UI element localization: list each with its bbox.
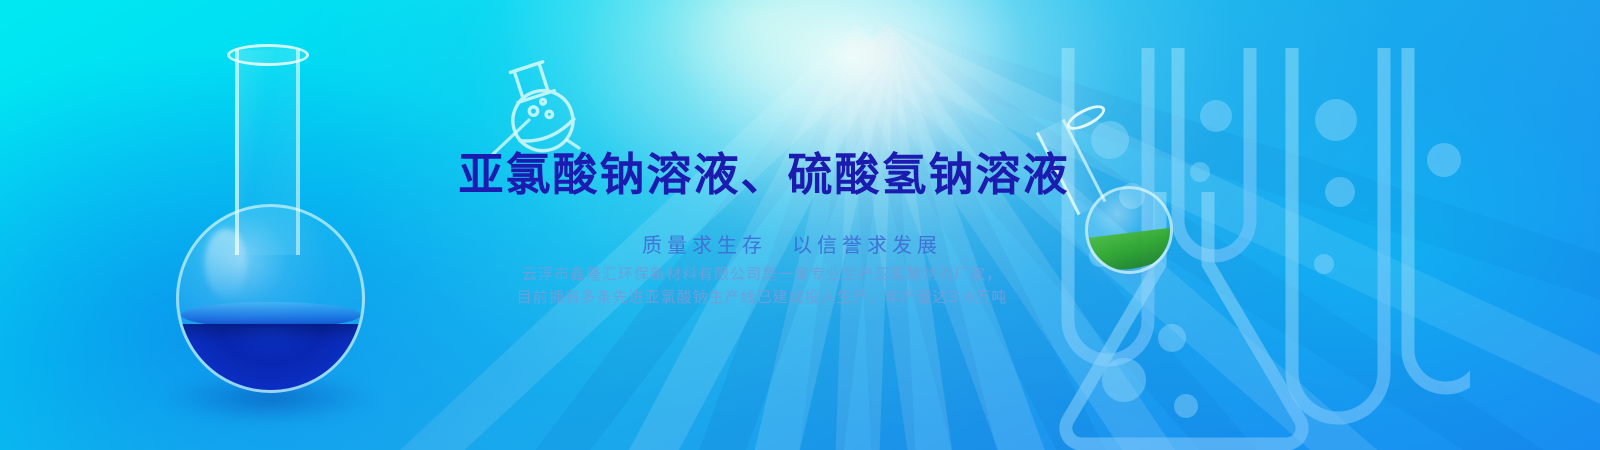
right-cyan-wash [940, 0, 1600, 450]
flask-blue-liquid [176, 324, 365, 393]
flask-liquid-surface [181, 302, 361, 328]
flask-lip [227, 44, 309, 66]
tilted-flask-lip [1063, 100, 1108, 134]
tilted-flask-shadow [1076, 258, 1178, 284]
bottom-left-blue-wash [0, 50, 620, 450]
tilted-flask-neck [1036, 119, 1106, 216]
radial-light-glow [300, 0, 1400, 435]
flask-bulb [176, 204, 365, 393]
banner-body-line-2: 目前拥有多条先进亚氯酸钠生产线已建成投入生产，年产量达3.6万吨 [0, 286, 1562, 307]
banner-text-block: 亚氯酸钠溶液、硫酸氢钠溶液 质量求生存 以信誉求发展 云浮市鑫隆汇环保新材料有限… [0, 0, 1600, 450]
flask-green-liquid [1085, 227, 1173, 274]
banner-tagline: 质量求生存 以信誉求发展 [0, 229, 1592, 258]
round-bottom-flask-left [168, 42, 368, 412]
banner-title: 亚氯酸钠溶液、硫酸氢钠溶液 [0, 152, 1564, 197]
banner-body-line-1: 云浮市鑫隆汇环保新材料有限公司是一家专业生产亚氯酸钠的厂家， [0, 263, 1562, 284]
flask-neck [235, 50, 300, 255]
tilted-flask-right [1058, 108, 1188, 278]
tilted-flask-bulb [1085, 186, 1173, 274]
flask-shadow [164, 372, 376, 424]
promo-banner: 亚氯酸钠溶液、硫酸氢钠溶液 质量求生存 以信誉求发展 云浮市鑫隆汇环保新材料有限… [0, 0, 1600, 450]
flask-outline-icon [483, 48, 603, 168]
sunburst-rays [0, 0, 1600, 450]
glassware-watermark [1040, 20, 1470, 450]
radial-light-core [500, 0, 1020, 200]
flask-highlight [205, 229, 247, 299]
